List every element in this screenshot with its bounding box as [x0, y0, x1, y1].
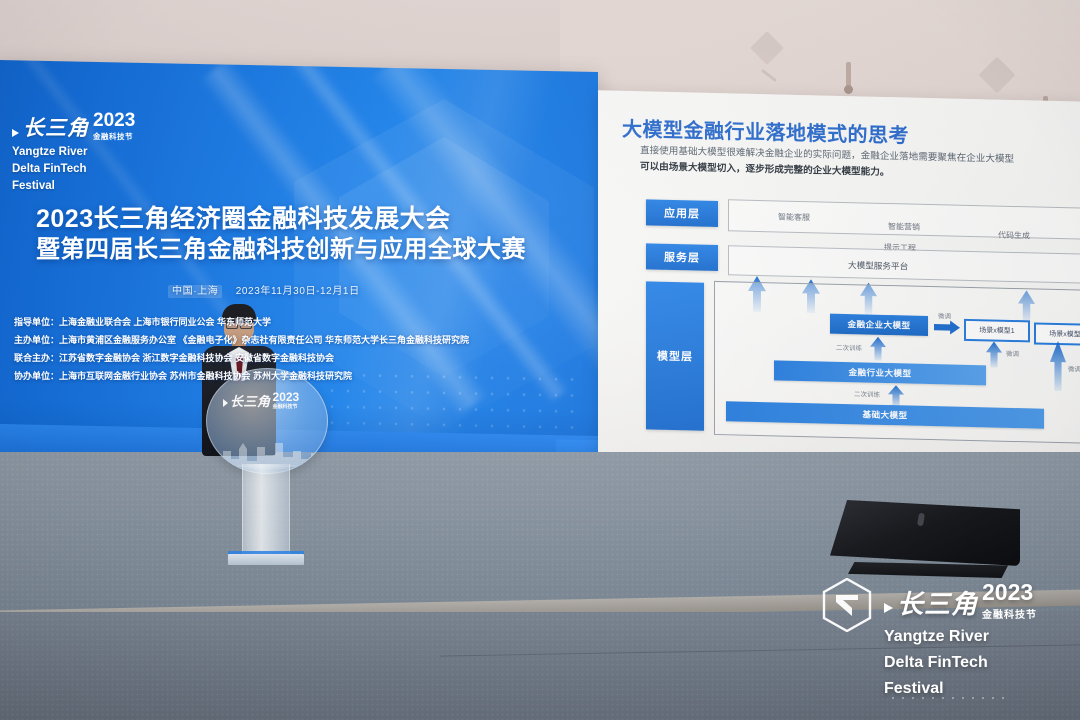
- festival-logo-cn: 长三角: [23, 112, 89, 142]
- festival-logo-year: 2023: [93, 112, 135, 130]
- conference-title: 2023长三角经济圈金融科技发展大会 暨第四届长三角金融科技创新与应用全球大赛: [36, 204, 506, 264]
- watermark-cn: 长三角: [897, 584, 978, 621]
- conference-location: 中国·上海: [168, 285, 222, 298]
- conference-title-line2: 暨第四届长三角金融科技创新与应用全球大赛: [36, 235, 506, 264]
- podium: 长三角 2023 金融科技节: [206, 368, 326, 568]
- arrow-label-secondary-train: 二次训练: [854, 388, 880, 399]
- conference-meta: 中国·上海 2023年11月30日-12月1日: [168, 282, 360, 297]
- presentation-screen: 大模型金融行业落地模式的思考 直接使用基础大模型很难解决金融企业的实际问题，金融…: [598, 90, 1080, 474]
- model-box-enterprise: 金融企业大模型: [830, 314, 928, 336]
- arrow-icon: [12, 129, 19, 137]
- model-box-scenario-1: 场景x模型1: [964, 319, 1030, 343]
- conference-dates: 2023年11月30日-12月1日: [236, 286, 360, 297]
- arrow-icon: [884, 603, 893, 613]
- watermark: 长三角 2023 金融科技节 Yangtze River Delta FinTe…: [822, 576, 1072, 706]
- festival-logo-en-line2: Delta FinTech: [12, 162, 162, 176]
- app-item-label: 智能客服: [778, 211, 810, 223]
- festival-logo-en-line1: Yangtze River: [12, 145, 162, 159]
- conference-stage-photo: 长三角 2023 金融科技节 Yangtze River Delta FinTe…: [0, 0, 1080, 720]
- service-platform-label: 大模型服务平台: [848, 259, 908, 272]
- slide-body: 直接使用基础大模型很难解决金融企业的实际问题，金融企业落地需要聚焦在企业大模型 …: [640, 143, 1080, 185]
- app-item-label: 代码生成: [998, 230, 1030, 242]
- podium-logo: 长三角 2023 金融科技节: [223, 391, 315, 410]
- watermark-text: 长三角 2023 金融科技节 Yangtze River Delta FinTe…: [884, 582, 1074, 699]
- festival-logo-sub: 金融科技节: [93, 131, 133, 142]
- arrow-icon: [223, 399, 228, 407]
- layer-tag-service: 服务层: [646, 243, 718, 271]
- podium-stem: [242, 464, 290, 558]
- festival-logo-en-line3: Festival: [12, 179, 162, 193]
- organizer-line: 协办单位：上海市互联网金融行业协会 苏州市金融科技协会 苏州大学金融科技研究院: [14, 372, 534, 381]
- conference-title-line1: 2023长三角经济圈金融科技发展大会: [36, 204, 506, 235]
- hexagon-logo-icon: [822, 578, 872, 632]
- podium-base: [228, 554, 304, 565]
- layer-tag-model: 模型层: [646, 281, 704, 430]
- arrow-label-tuning: 微调: [1006, 348, 1019, 358]
- organizer-line: 联合主办：江苏省数字金融协会 浙江数字金融科技协会 安徽省数字金融科技协会: [14, 354, 534, 363]
- watermark-sub: 金融科技节: [982, 606, 1037, 621]
- stage-monitor: [830, 500, 1020, 588]
- model-box-scenario-2: 场景x模型2: [1034, 322, 1080, 346]
- arrow-label-tuning: 微调: [938, 310, 951, 320]
- podium-logo-sub: 金融科技节: [273, 403, 298, 410]
- festival-logo: 长三角 2023 金融科技节 Yangtze River Delta FinTe…: [12, 112, 162, 193]
- watermark-year: 2023: [982, 582, 1033, 604]
- organizer-line: 主办单位：上海市黄浦区金融服务办公室 《金融电子化》杂志社有限责任公司 华东师范…: [14, 336, 534, 345]
- podium-logo-cn: 长三角: [230, 391, 271, 410]
- monitor-cabinet: [830, 500, 1020, 566]
- watermark-en-line1: Yangtze River: [884, 627, 1074, 647]
- app-item-label: 智能营销: [888, 221, 920, 233]
- podium-logo-year: 2023: [273, 392, 300, 403]
- arrow-label-tuning: 微调: [1068, 363, 1080, 373]
- arrow-label-secondary-train: 二次训练: [836, 342, 862, 353]
- skyline-icon: [213, 429, 321, 469]
- watermark-en-line2: Delta FinTech: [884, 653, 1074, 673]
- organizer-line: 指导单位：上海金融业联合会 上海市银行同业公会 华东师范大学: [14, 318, 534, 327]
- watermark-dot-pattern: [888, 694, 1008, 702]
- organizer-list: 指导单位：上海金融业联合会 上海市银行同业公会 华东师范大学 主办单位：上海市黄…: [14, 318, 534, 390]
- layer-tag-application: 应用层: [646, 199, 718, 227]
